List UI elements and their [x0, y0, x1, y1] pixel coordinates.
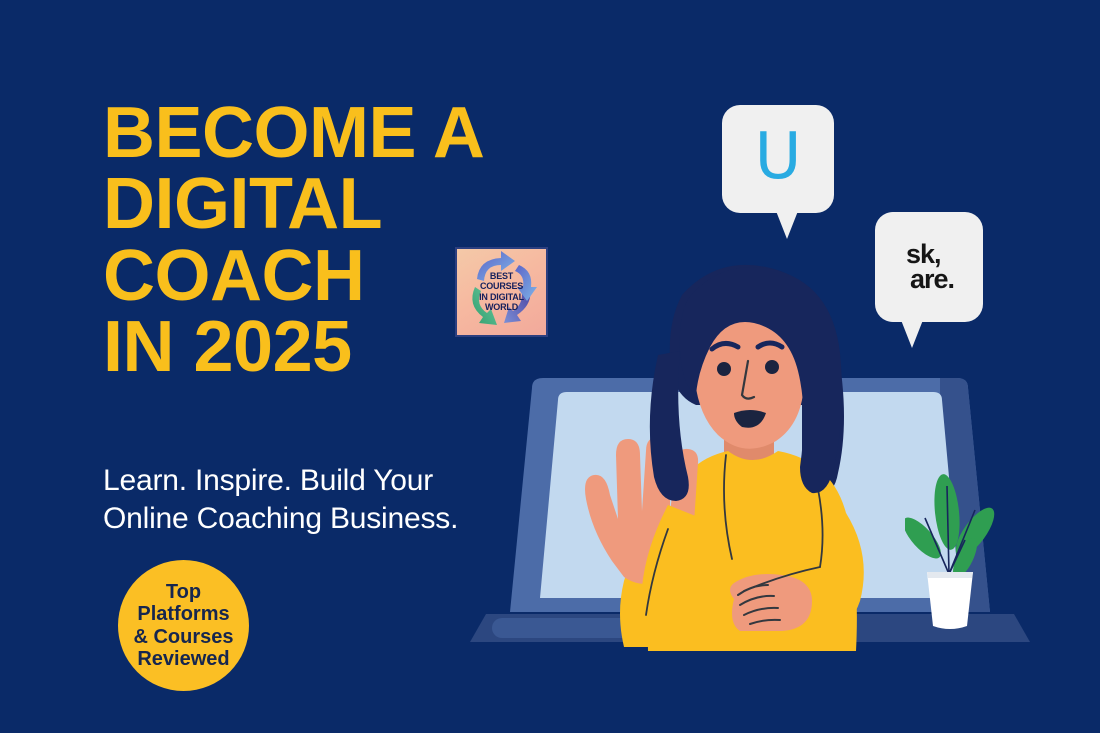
- brand-logo-line-1: BEST: [457, 271, 546, 281]
- badge-line-2: Platforms: [137, 603, 229, 625]
- badge-line-1: Top: [166, 581, 201, 603]
- badge-line-4: Reviewed: [137, 648, 229, 670]
- brand-logo: BEST COURSES IN DIGITAL WORLD: [455, 247, 548, 337]
- status-badge: Top Platforms & Courses Reviewed: [118, 560, 249, 691]
- subtitle-line-1: Learn. Inspire. Build Your: [103, 462, 533, 500]
- udemy-bubble: U: [722, 105, 834, 213]
- potted-plant-illustration: [905, 470, 995, 630]
- brand-logo-line-4: WORLD: [457, 302, 546, 312]
- udemy-u-logo-icon: U: [755, 125, 802, 189]
- skillshare-bubble: sk, are.: [875, 212, 983, 322]
- promo-banner: BECOME A DIGITAL COACH IN 2025 Learn. In…: [0, 0, 1100, 733]
- brand-logo-text: BEST COURSES IN DIGITAL WORLD: [457, 271, 546, 313]
- page-title: BECOME A DIGITAL COACH IN 2025: [103, 98, 573, 383]
- skillshare-logo-line-2: are.: [910, 267, 954, 292]
- badge-line-3: & Courses: [133, 626, 233, 648]
- skillshare-logo-icon: sk, are.: [906, 242, 954, 292]
- subtitle-line-2: Online Coaching Business.: [103, 500, 533, 538]
- page-subtitle: Learn. Inspire. Build Your Online Coachi…: [103, 462, 533, 539]
- headline-line-2: DIGITAL: [103, 169, 573, 240]
- brand-logo-line-3: IN DIGITAL: [457, 292, 546, 302]
- brand-logo-line-2: COURSES: [457, 282, 546, 292]
- headline-line-1: BECOME A: [103, 98, 573, 169]
